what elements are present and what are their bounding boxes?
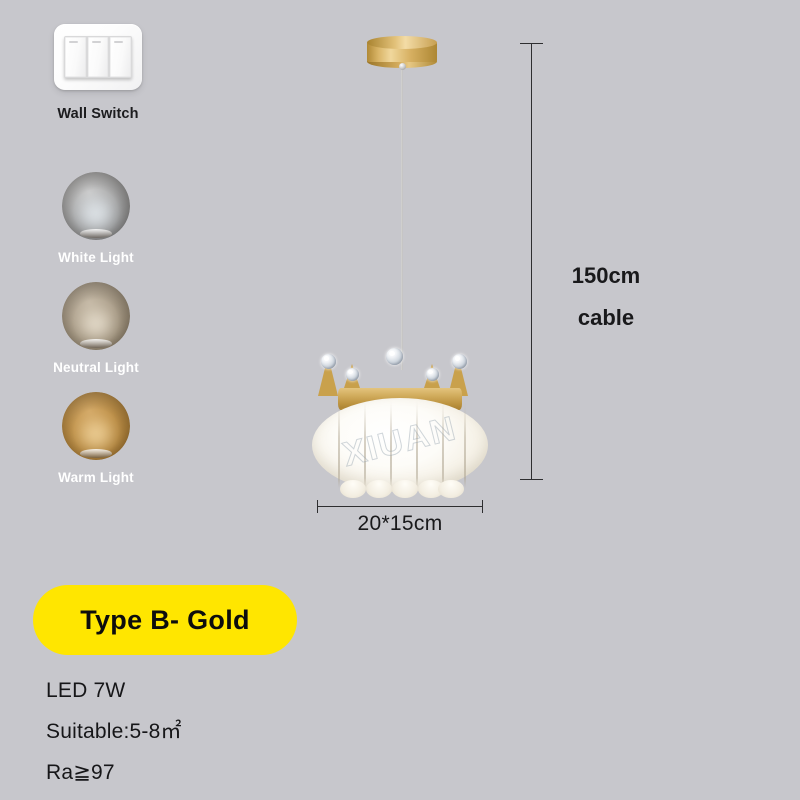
- shade-rib: [442, 401, 444, 489]
- shade-rib: [416, 401, 418, 489]
- shade-rib: [390, 401, 392, 489]
- light-color-label-warm: Warm Light: [48, 470, 144, 485]
- spec-area: Suitable:5-8㎡: [46, 711, 376, 752]
- canopy-top: [367, 36, 437, 49]
- wall-switch-icon: [54, 24, 142, 90]
- shade-lobe: [438, 480, 464, 498]
- shade-lobe: [366, 480, 392, 498]
- lamp-shade: XIUAN: [312, 398, 488, 494]
- light-color-label-neutral: Neutral Light: [48, 360, 144, 375]
- shade-lobe: [340, 480, 366, 498]
- crown-crystal-1: [321, 354, 336, 369]
- light-color-warm: Warm Light: [48, 392, 144, 485]
- crown-crystal-2: [346, 368, 359, 381]
- cable-dimension-label: 150cm cable: [546, 255, 666, 339]
- shade-rib: [464, 401, 466, 489]
- width-dimension-line: [317, 506, 483, 507]
- sphere-icon-neutral: [62, 282, 130, 350]
- hanging-cable: [401, 64, 403, 370]
- spec-cri: Ra≧97: [46, 752, 376, 793]
- feature-wall-switch: Wall Switch: [48, 24, 148, 122]
- product-spec-image: Wall Switch White Light Neutral Light Wa…: [0, 0, 800, 800]
- crown-crystal-4: [426, 368, 439, 381]
- wall-switch-rocker-3: [110, 37, 131, 77]
- crown-crystal-5: [452, 354, 467, 369]
- variant-badge-label: Type B- Gold: [80, 605, 250, 636]
- spec-list: LED 7W Suitable:5-8㎡ Ra≧97: [46, 670, 376, 793]
- cable-dimension-line: [531, 43, 532, 480]
- light-color-white: White Light: [48, 172, 144, 265]
- variant-badge: Type B- Gold: [33, 585, 297, 655]
- crown-crystal-3: [386, 348, 403, 365]
- cable-dimension-cap-bottom: [520, 479, 543, 480]
- shade-lobe: [392, 480, 418, 498]
- spec-power: LED 7W: [46, 670, 376, 711]
- cable-dimension-value: 150cm: [546, 255, 666, 297]
- ceiling-canopy: [367, 36, 437, 66]
- light-color-label-white: White Light: [48, 250, 144, 265]
- wall-switch-label: Wall Switch: [48, 106, 148, 122]
- wall-switch-rocker-2: [88, 37, 109, 77]
- light-color-neutral: Neutral Light: [48, 282, 144, 375]
- cable-dimension-unit: cable: [546, 297, 666, 339]
- sphere-icon-warm: [62, 392, 130, 460]
- width-dimension-label: 20*15cm: [300, 512, 500, 536]
- canopy-connector: [399, 63, 406, 70]
- pendant-lamp: XIUAN: [310, 344, 490, 496]
- sphere-icon-white: [62, 172, 130, 240]
- wall-switch-rockers: [64, 36, 132, 78]
- cable-dimension-cap-top: [520, 43, 543, 44]
- shade-rib: [338, 401, 340, 489]
- shade-rib: [364, 401, 366, 489]
- wall-switch-rocker-1: [65, 37, 86, 77]
